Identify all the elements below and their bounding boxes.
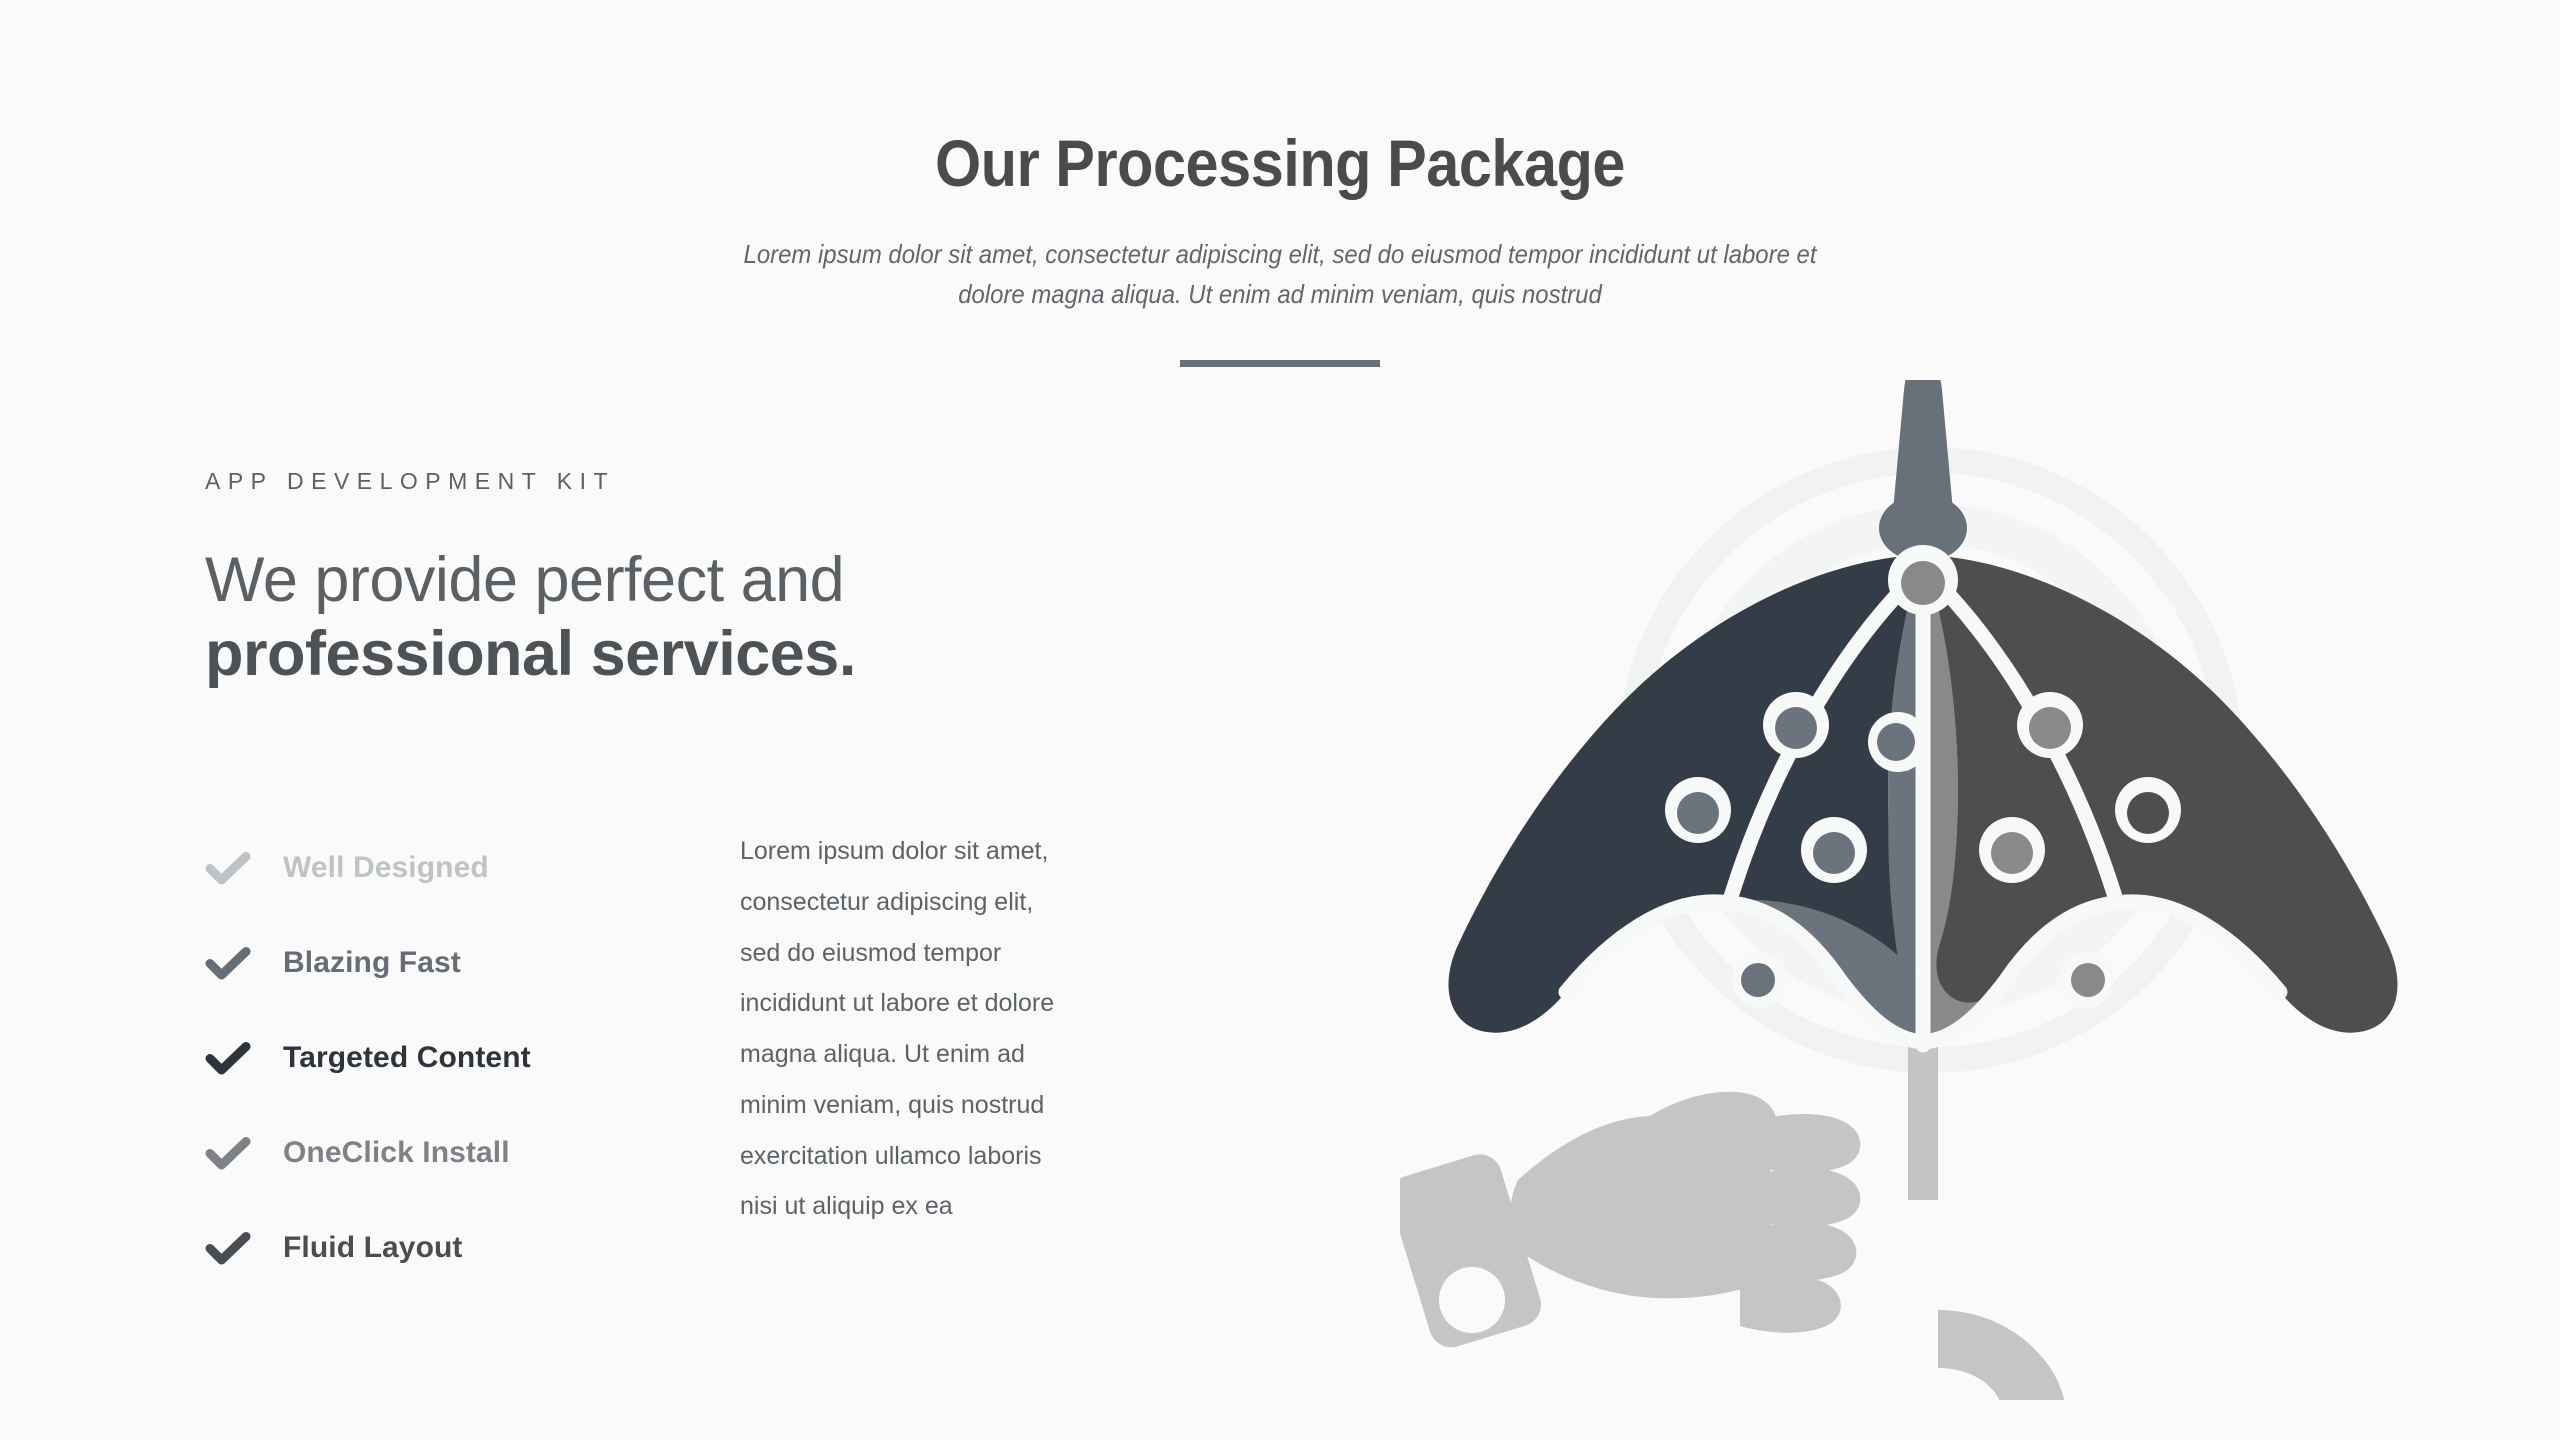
list-item[interactable]: Targeted Content (205, 1010, 675, 1105)
check-icon (205, 1130, 251, 1176)
feature-list: Well Designed Blazing Fast Targeted Cont… (205, 810, 675, 1295)
page-subtitle: Lorem ipsum dolor sit amet, consectetur … (102, 234, 2457, 315)
headline: We provide perfect and professional serv… (205, 543, 1305, 692)
headline-line-1: We provide perfect and (205, 543, 1305, 617)
left-column: APP DEVELOPMENT KIT We provide perfect a… (205, 470, 1305, 692)
feature-label: Fluid Layout (283, 1231, 463, 1265)
slide-root: Our Processing Package Lorem ipsum dolor… (0, 0, 2560, 1440)
hand-holding-handle (1400, 1092, 2066, 1400)
check-icon (205, 1225, 251, 1271)
header-block: Our Processing Package Lorem ipsum dolor… (0, 130, 2560, 315)
list-item[interactable]: Well Designed (205, 820, 675, 915)
header-divider (1180, 360, 1380, 367)
headline-line-2: professional services. (205, 617, 1305, 691)
body-paragraph: Lorem ipsum dolor sit amet, consectetur … (740, 810, 1070, 1295)
list-item[interactable]: OneClick Install (205, 1105, 675, 1200)
list-item[interactable]: Blazing Fast (205, 915, 675, 1010)
lower-content: Well Designed Blazing Fast Targeted Cont… (205, 810, 1355, 1295)
feature-label: Targeted Content (283, 1041, 531, 1075)
page-title: Our Processing Package (128, 130, 2432, 196)
subtitle-line-2: dolore magna aliqua. Ut enim ad minim ve… (102, 274, 2457, 314)
check-icon (205, 1035, 251, 1081)
feature-label: Blazing Fast (283, 946, 461, 980)
feature-label: OneClick Install (283, 1136, 510, 1170)
feature-label: Well Designed (283, 851, 489, 885)
list-item[interactable]: Fluid Layout (205, 1200, 675, 1295)
subtitle-line-1: Lorem ipsum dolor sit amet, consectetur … (102, 234, 2457, 274)
check-icon (205, 940, 251, 986)
check-icon (205, 845, 251, 891)
eyebrow-label: APP DEVELOPMENT KIT (205, 470, 1305, 493)
umbrella-illustration (1400, 380, 2440, 1400)
